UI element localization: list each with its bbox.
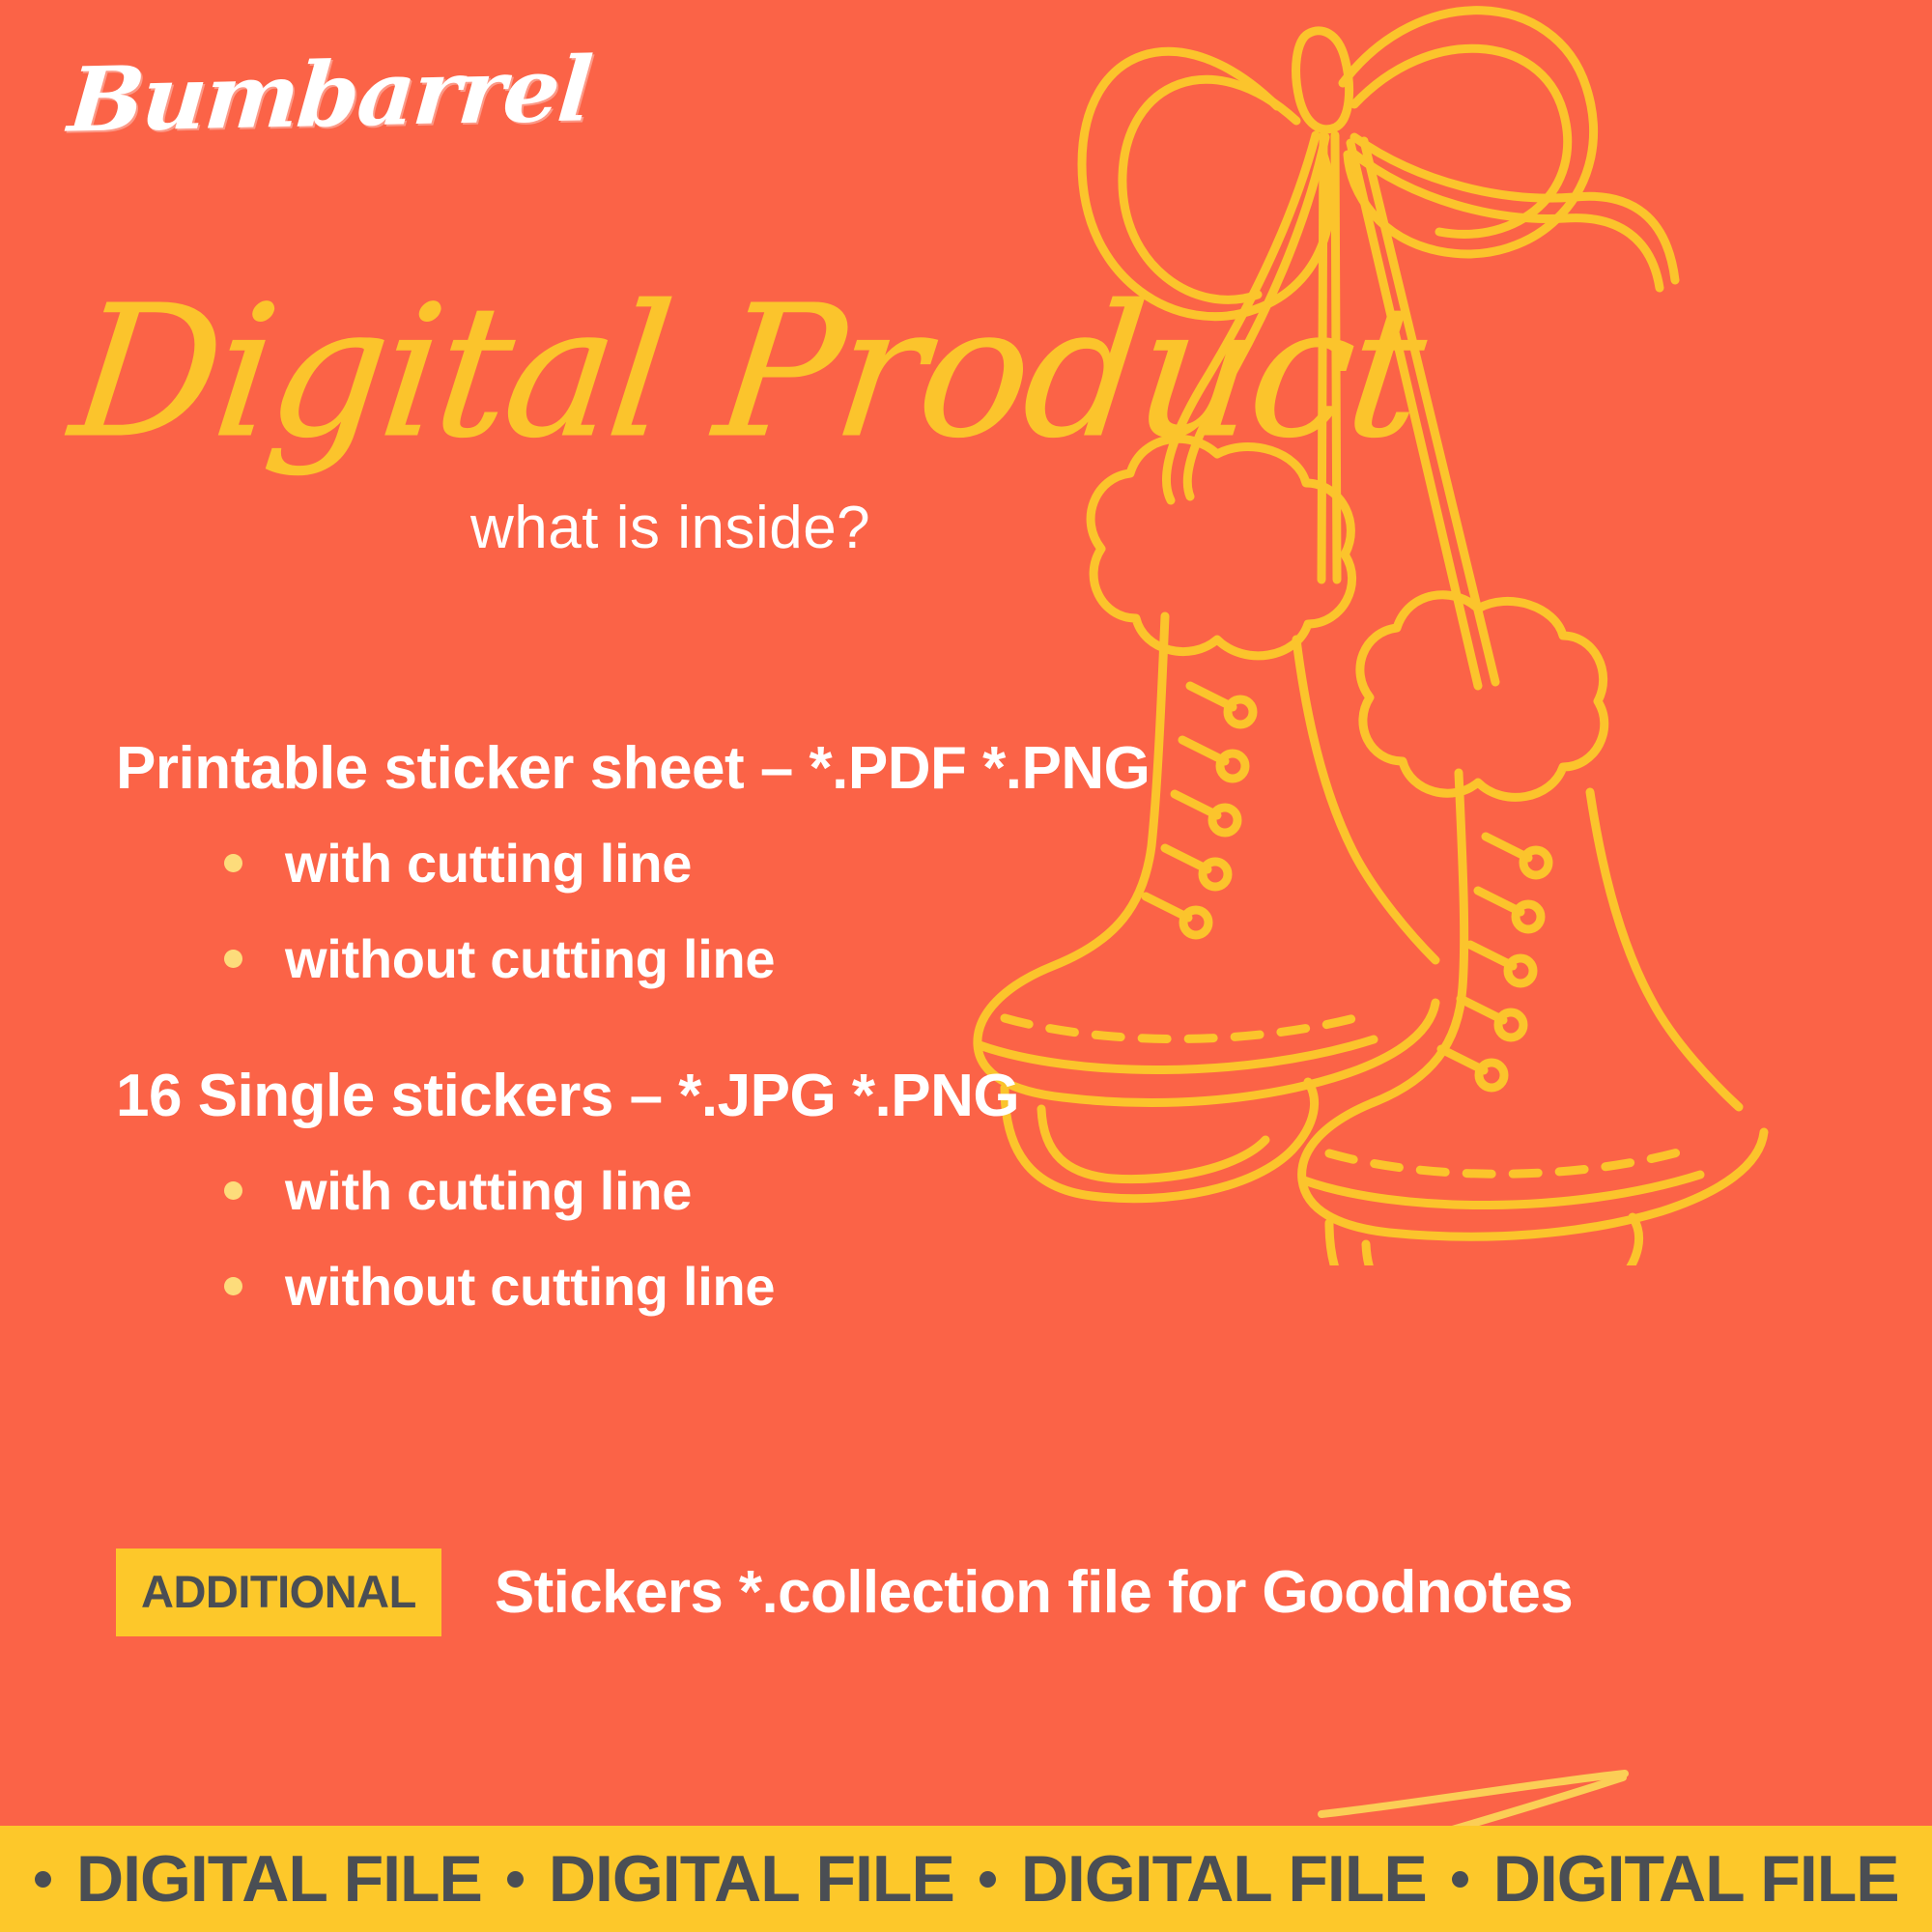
list-item-label: without cutting line — [285, 927, 775, 990]
banner-label: DIGITAL FILE — [1021, 1846, 1427, 1912]
list-item: with cutting line — [224, 832, 1256, 895]
list-item-label: with cutting line — [285, 1159, 692, 1222]
banner-dot-icon — [507, 1871, 524, 1888]
banner-dot-icon — [980, 1871, 996, 1888]
banner-dot-icon — [1452, 1871, 1468, 1888]
section-title-single-stickers: 16 Single stickers – *.JPG *.PNG — [116, 1062, 1256, 1130]
list-item-label: without cutting line — [285, 1255, 775, 1318]
brand-logo: Bumbarrel — [65, 37, 595, 152]
bullet-dot-icon — [224, 1277, 242, 1295]
banner-label: DIGITAL FILE — [76, 1846, 482, 1912]
bullet-dot-icon — [224, 1181, 242, 1200]
bullet-dot-icon — [224, 854, 242, 872]
bullet-list-printable: with cutting line without cutting line — [224, 832, 1256, 990]
poster-canvas: Bumbarrel Digital Product what is inside… — [0, 0, 1932, 1932]
page-title: Digital Product — [64, 282, 1430, 464]
status-badge: ADDITIONAL — [116, 1548, 441, 1636]
bullet-dot-icon — [224, 950, 242, 968]
list-item-label: with cutting line — [285, 832, 692, 895]
additional-row: ADDITIONAL Stickers *.collection file fo… — [116, 1548, 1573, 1636]
page-subtitle: what is inside? — [470, 494, 870, 562]
list-item: without cutting line — [224, 1255, 1256, 1318]
section-title-printable: Printable sticker sheet – *.PDF *.PNG — [116, 734, 1256, 803]
banner-dot-icon — [35, 1871, 51, 1888]
list-item: without cutting line — [224, 927, 1256, 990]
digital-file-banner: DIGITAL FILE DIGITAL FILE DIGITAL FILE D… — [0, 1826, 1932, 1932]
additional-description: Stickers *.collection file for Goodnotes — [495, 1558, 1573, 1627]
banner-label: DIGITAL FILE — [549, 1846, 954, 1912]
bullet-list-single-stickers: with cutting line without cutting line — [224, 1159, 1256, 1318]
banner-label: DIGITAL FILE — [1493, 1846, 1899, 1912]
feature-list: Printable sticker sheet – *.PDF *.PNG wi… — [116, 734, 1256, 1389]
list-item: with cutting line — [224, 1159, 1256, 1222]
banner-track: DIGITAL FILE DIGITAL FILE DIGITAL FILE D… — [0, 1846, 1899, 1912]
